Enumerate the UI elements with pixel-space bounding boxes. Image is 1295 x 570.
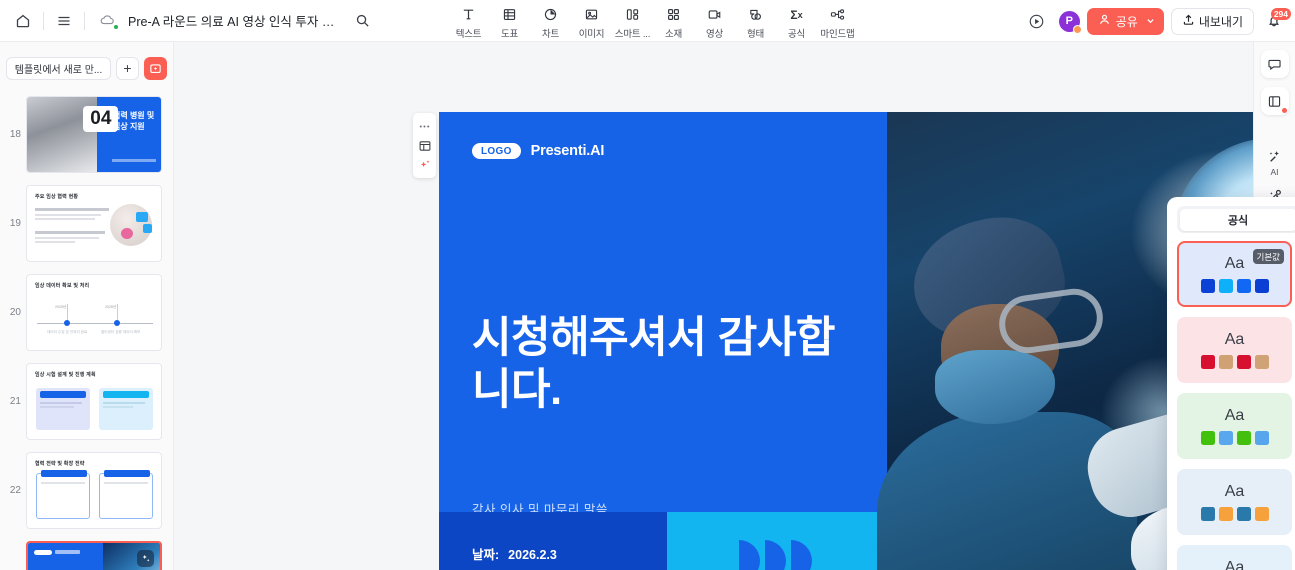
tool-label: 소재 <box>665 26 682 40</box>
thumb-line <box>40 402 82 404</box>
tool-shape[interactable]: 형태 <box>735 1 776 40</box>
comment-icon[interactable] <box>1261 50 1289 78</box>
theme-swatches <box>1201 507 1269 521</box>
color-swatch <box>1255 355 1269 369</box>
thumb-blue-panel <box>28 543 103 570</box>
slide-title[interactable]: 시청해주셔서 감사합니다. <box>472 312 872 416</box>
tool-label: 영상 <box>706 26 723 40</box>
color-swatch <box>1237 431 1251 445</box>
top-toolbar: Pre-A 라운드 의료 AI 영상 인식 투자 프로젝트 ... 텍스트 도표 <box>0 0 1295 42</box>
slide-number: 21 <box>4 396 21 407</box>
color-swatch <box>1219 279 1233 293</box>
thumb-line <box>35 218 95 220</box>
thumb-title: 임상 데이터 확보 및 처리 <box>35 282 89 289</box>
divider <box>43 12 44 30</box>
list-item[interactable]: 23 시청해주셔서 감사합니다. <box>0 535 174 570</box>
home-icon[interactable] <box>8 6 38 36</box>
tool-smartart[interactable]: 스마트 ... <box>612 1 653 40</box>
tool-label: 텍스트 <box>456 26 482 40</box>
export-upload-icon <box>1182 13 1195 29</box>
tool-label: 도표 <box>501 26 518 40</box>
thumb-card <box>36 473 90 519</box>
theme-sample-text: Aa <box>1225 255 1245 273</box>
thumb-title: 협력 병원 및 임상 지원 <box>113 110 157 132</box>
insert-tools-group: 텍스트 도표 차트 이미지 <box>448 1 858 40</box>
slide-navigator-panel: 템플릿에서 새로 만... + 18 04 협력 병원 및 임상 지원 19 주… <box>0 42 174 570</box>
thumb-line <box>35 208 109 211</box>
color-theme-card[interactable]: 기본값Aa <box>1177 241 1292 307</box>
slide-logo-lockup: LOGO Presenti.AI <box>472 143 604 159</box>
color-theme-card[interactable]: Aa <box>1177 317 1292 383</box>
tab-official[interactable]: 공식 <box>1180 209 1295 231</box>
new-from-template-button[interactable]: 템플릿에서 새로 만... <box>6 57 111 80</box>
thumb-shape <box>143 224 152 233</box>
share-button[interactable]: 공유 <box>1087 8 1164 35</box>
image-icon <box>584 5 599 24</box>
theme-swatches <box>1201 355 1269 369</box>
add-slide-button[interactable]: + <box>116 57 139 80</box>
tool-label: 차트 <box>542 26 559 40</box>
tool-chart[interactable]: 차트 <box>530 1 571 40</box>
chevron-down-icon[interactable] <box>1146 14 1155 28</box>
color-theme-card[interactable]: Aa <box>1177 545 1292 570</box>
thumb-line <box>35 214 101 216</box>
document-title[interactable]: Pre-A 라운드 의료 AI 영상 인식 투자 프로젝트 ... <box>128 11 343 30</box>
thumb-shape <box>136 212 148 222</box>
color-theme-panel: 공식 커스터마이징 기본값AaAaAaAaAaAaAaAaAaAa <box>1167 197 1295 570</box>
color-swatch <box>1201 507 1215 521</box>
theme-sample-text: Aa <box>1225 559 1245 570</box>
default-badge: 기본값 <box>1253 249 1284 264</box>
thumb-title: 임상 시험 설계 및 진행 계획 <box>35 371 96 378</box>
thumb-line <box>40 406 74 408</box>
theme-sample-text: Aa <box>1225 331 1245 349</box>
ai-sparkle-icon[interactable] <box>416 156 433 173</box>
cloud-sync-icon[interactable] <box>92 6 122 36</box>
shape-icon <box>748 5 763 24</box>
pie-chart-icon <box>543 5 558 24</box>
color-swatch <box>1237 507 1251 521</box>
list-item[interactable]: 21 임상 시험 설계 및 진행 계획 <box>0 357 174 446</box>
tool-assets[interactable]: 소재 <box>653 1 694 40</box>
mindmap-icon <box>830 5 846 24</box>
theme-sample-text: Aa <box>1225 483 1245 501</box>
thumb-title: 주요 임상 협력 현황 <box>35 193 78 200</box>
slide-thumbnail-19[interactable]: 주요 임상 협력 현황 <box>26 185 162 262</box>
share-person-icon <box>1098 13 1111 29</box>
ai-slide-icon[interactable] <box>144 57 167 80</box>
tool-text[interactable]: 텍스트 <box>448 1 489 40</box>
play-present-icon[interactable] <box>1022 6 1052 36</box>
search-icon[interactable] <box>347 6 377 36</box>
tool-image[interactable]: 이미지 <box>571 1 612 40</box>
smart-art-icon <box>625 5 640 24</box>
color-theme-card[interactable]: Aa <box>1177 469 1292 535</box>
thumb-bar <box>41 470 87 477</box>
tool-label: 이미지 <box>579 26 605 40</box>
slide-thumbnail-18[interactable]: 04 협력 병원 및 임상 지원 <box>26 96 162 173</box>
thumb-line <box>103 406 133 408</box>
slide-number: 20 <box>4 307 21 318</box>
thumb-dot <box>114 320 120 326</box>
thumb-dot <box>64 320 70 326</box>
slide-thumbnail-20[interactable]: 임상 데이터 확보 및 처리 2025년 2026년 데이터 수집 및 전처리 … <box>26 274 162 351</box>
tool-table[interactable]: 도표 <box>489 1 530 40</box>
more-horizontal-icon[interactable] <box>416 118 433 135</box>
thumb-shape <box>121 228 133 239</box>
color-swatch <box>1255 431 1269 445</box>
slide-number: 22 <box>4 485 21 496</box>
sidebar-item-label: AI <box>1270 167 1278 177</box>
canvas-float-toolbar <box>413 113 436 178</box>
thumb-line <box>104 482 148 484</box>
export-button[interactable]: 내보내기 <box>1171 8 1254 35</box>
decoration-shape <box>791 540 812 570</box>
thumb-line <box>35 237 99 239</box>
thumb-bar <box>104 470 150 477</box>
assets-grid-icon <box>666 5 681 24</box>
color-swatch <box>1219 431 1233 445</box>
topbar-right-cluster: P 공유 내보내기 294 <box>1022 0 1287 42</box>
thumb-caption: 데이터 수집 및 전처리 완료 <box>47 330 89 335</box>
color-swatch <box>1201 279 1215 293</box>
slide-thumbnail-list[interactable]: 18 04 협력 병원 및 임상 지원 19 주요 임상 협력 현황 <box>0 90 174 570</box>
notification-badge: 294 <box>1271 8 1291 20</box>
thumb-label: 2025년 <box>55 305 66 310</box>
notes-badge-dot <box>1282 108 1287 113</box>
color-theme-grid[interactable]: 기본값AaAaAaAaAaAaAaAaAaAa <box>1177 241 1295 570</box>
ai-sparkle-icon[interactable] <box>137 550 154 567</box>
notes-panel-icon[interactable] <box>1261 87 1289 115</box>
tool-mindmap[interactable]: 마인드맵 <box>817 1 858 40</box>
thumb-logo <box>34 550 52 555</box>
tool-label: 형태 <box>747 26 764 40</box>
thumb-line <box>112 159 156 162</box>
tool-video[interactable]: 영상 <box>694 1 735 40</box>
text-icon <box>461 5 476 24</box>
color-swatch <box>1237 355 1251 369</box>
thumb-label: 2026년 <box>105 305 116 310</box>
thumb-bar <box>40 391 86 398</box>
divider <box>84 12 85 30</box>
table-icon <box>502 5 517 24</box>
list-item[interactable]: 19 주요 임상 협력 현황 <box>0 179 174 268</box>
sidebar-item-ai[interactable]: AI <box>1257 142 1293 180</box>
slide-thumbnail-23[interactable]: 시청해주셔서 감사합니다. <box>26 541 162 570</box>
decoration-shape <box>765 540 786 570</box>
slide-thumbnail-22[interactable]: 협력 전략 및 확장 전략 <box>26 452 162 529</box>
slide-canvas-area: LOGO Presenti.AI 시청해주셔서 감사합니다. 감사 인사 및 마… <box>174 42 1253 570</box>
slide-date-row: 날짜:2026.2.3 <box>472 544 557 563</box>
color-swatch <box>1237 279 1251 293</box>
date-label: 날짜: <box>472 548 499 562</box>
slide-number: 18 <box>4 129 21 140</box>
list-item[interactable]: 22 협력 전략 및 확장 전략 <box>0 446 174 535</box>
notification-bell-icon[interactable]: 294 <box>1261 8 1287 34</box>
color-swatch <box>1201 431 1215 445</box>
thumb-card <box>99 388 153 430</box>
theme-sample-text: Aa <box>1225 407 1245 425</box>
color-theme-card[interactable]: Aa <box>1177 393 1292 459</box>
tool-label: 스마트 ... <box>615 26 650 40</box>
sync-status-dot <box>114 25 118 29</box>
theme-swatches <box>1201 279 1269 293</box>
logo-text: Presenti.AI <box>531 143 605 159</box>
hamburger-menu-icon[interactable] <box>49 6 79 36</box>
video-icon <box>707 5 722 24</box>
tool-label: 마인드맵 <box>820 26 854 40</box>
thumb-line <box>35 231 105 234</box>
color-swatch <box>1255 507 1269 521</box>
color-swatch <box>1255 279 1269 293</box>
decoration-shape <box>739 540 760 570</box>
share-label: 공유 <box>1116 13 1138 30</box>
layout-icon[interactable] <box>416 137 433 154</box>
color-swatch <box>1219 507 1233 521</box>
avatar-initial: P <box>1066 15 1073 27</box>
list-item[interactable]: 20 임상 데이터 확보 및 처리 2025년 2026년 데이터 수집 및 전… <box>0 268 174 357</box>
thumb-card <box>99 473 153 519</box>
thumb-axis <box>37 323 153 324</box>
thumb-card <box>36 388 90 430</box>
slide-decoration-dots <box>739 540 812 570</box>
color-swatch <box>1219 355 1233 369</box>
thumb-line <box>35 241 75 243</box>
ai-wand-icon <box>1267 147 1283 165</box>
avatar-status-dot <box>1073 25 1082 34</box>
slide-thumbnail-21[interactable]: 임상 시험 설계 및 진행 계획 <box>26 363 162 440</box>
thumb-line <box>41 482 85 484</box>
slide-number: 19 <box>4 218 21 229</box>
formula-icon: Σx <box>790 5 802 24</box>
color-panel-tabs: 공식 커스터마이징 <box>1177 206 1295 233</box>
date-value: 2026.2.3 <box>508 548 557 562</box>
thumb-title: 협력 전략 및 확장 전략 <box>35 460 85 467</box>
color-swatch <box>1201 355 1215 369</box>
thumb-caption: 멀티센터 검증 데이터 확보 <box>101 330 143 335</box>
avatar[interactable]: P <box>1059 11 1080 32</box>
tool-label: 공식 <box>788 26 805 40</box>
tool-formula[interactable]: Σx 공식 <box>776 1 817 40</box>
logo-badge: LOGO <box>472 143 521 159</box>
thumb-logo-text <box>55 550 80 554</box>
thumb-bar <box>103 391 149 398</box>
export-label: 내보내기 <box>1199 13 1243 30</box>
theme-swatches <box>1201 431 1269 445</box>
slide-panel-header: 템플릿에서 새로 만... + <box>0 52 173 84</box>
list-item[interactable]: 18 04 협력 병원 및 임상 지원 <box>0 90 174 179</box>
thumb-line <box>103 402 145 404</box>
